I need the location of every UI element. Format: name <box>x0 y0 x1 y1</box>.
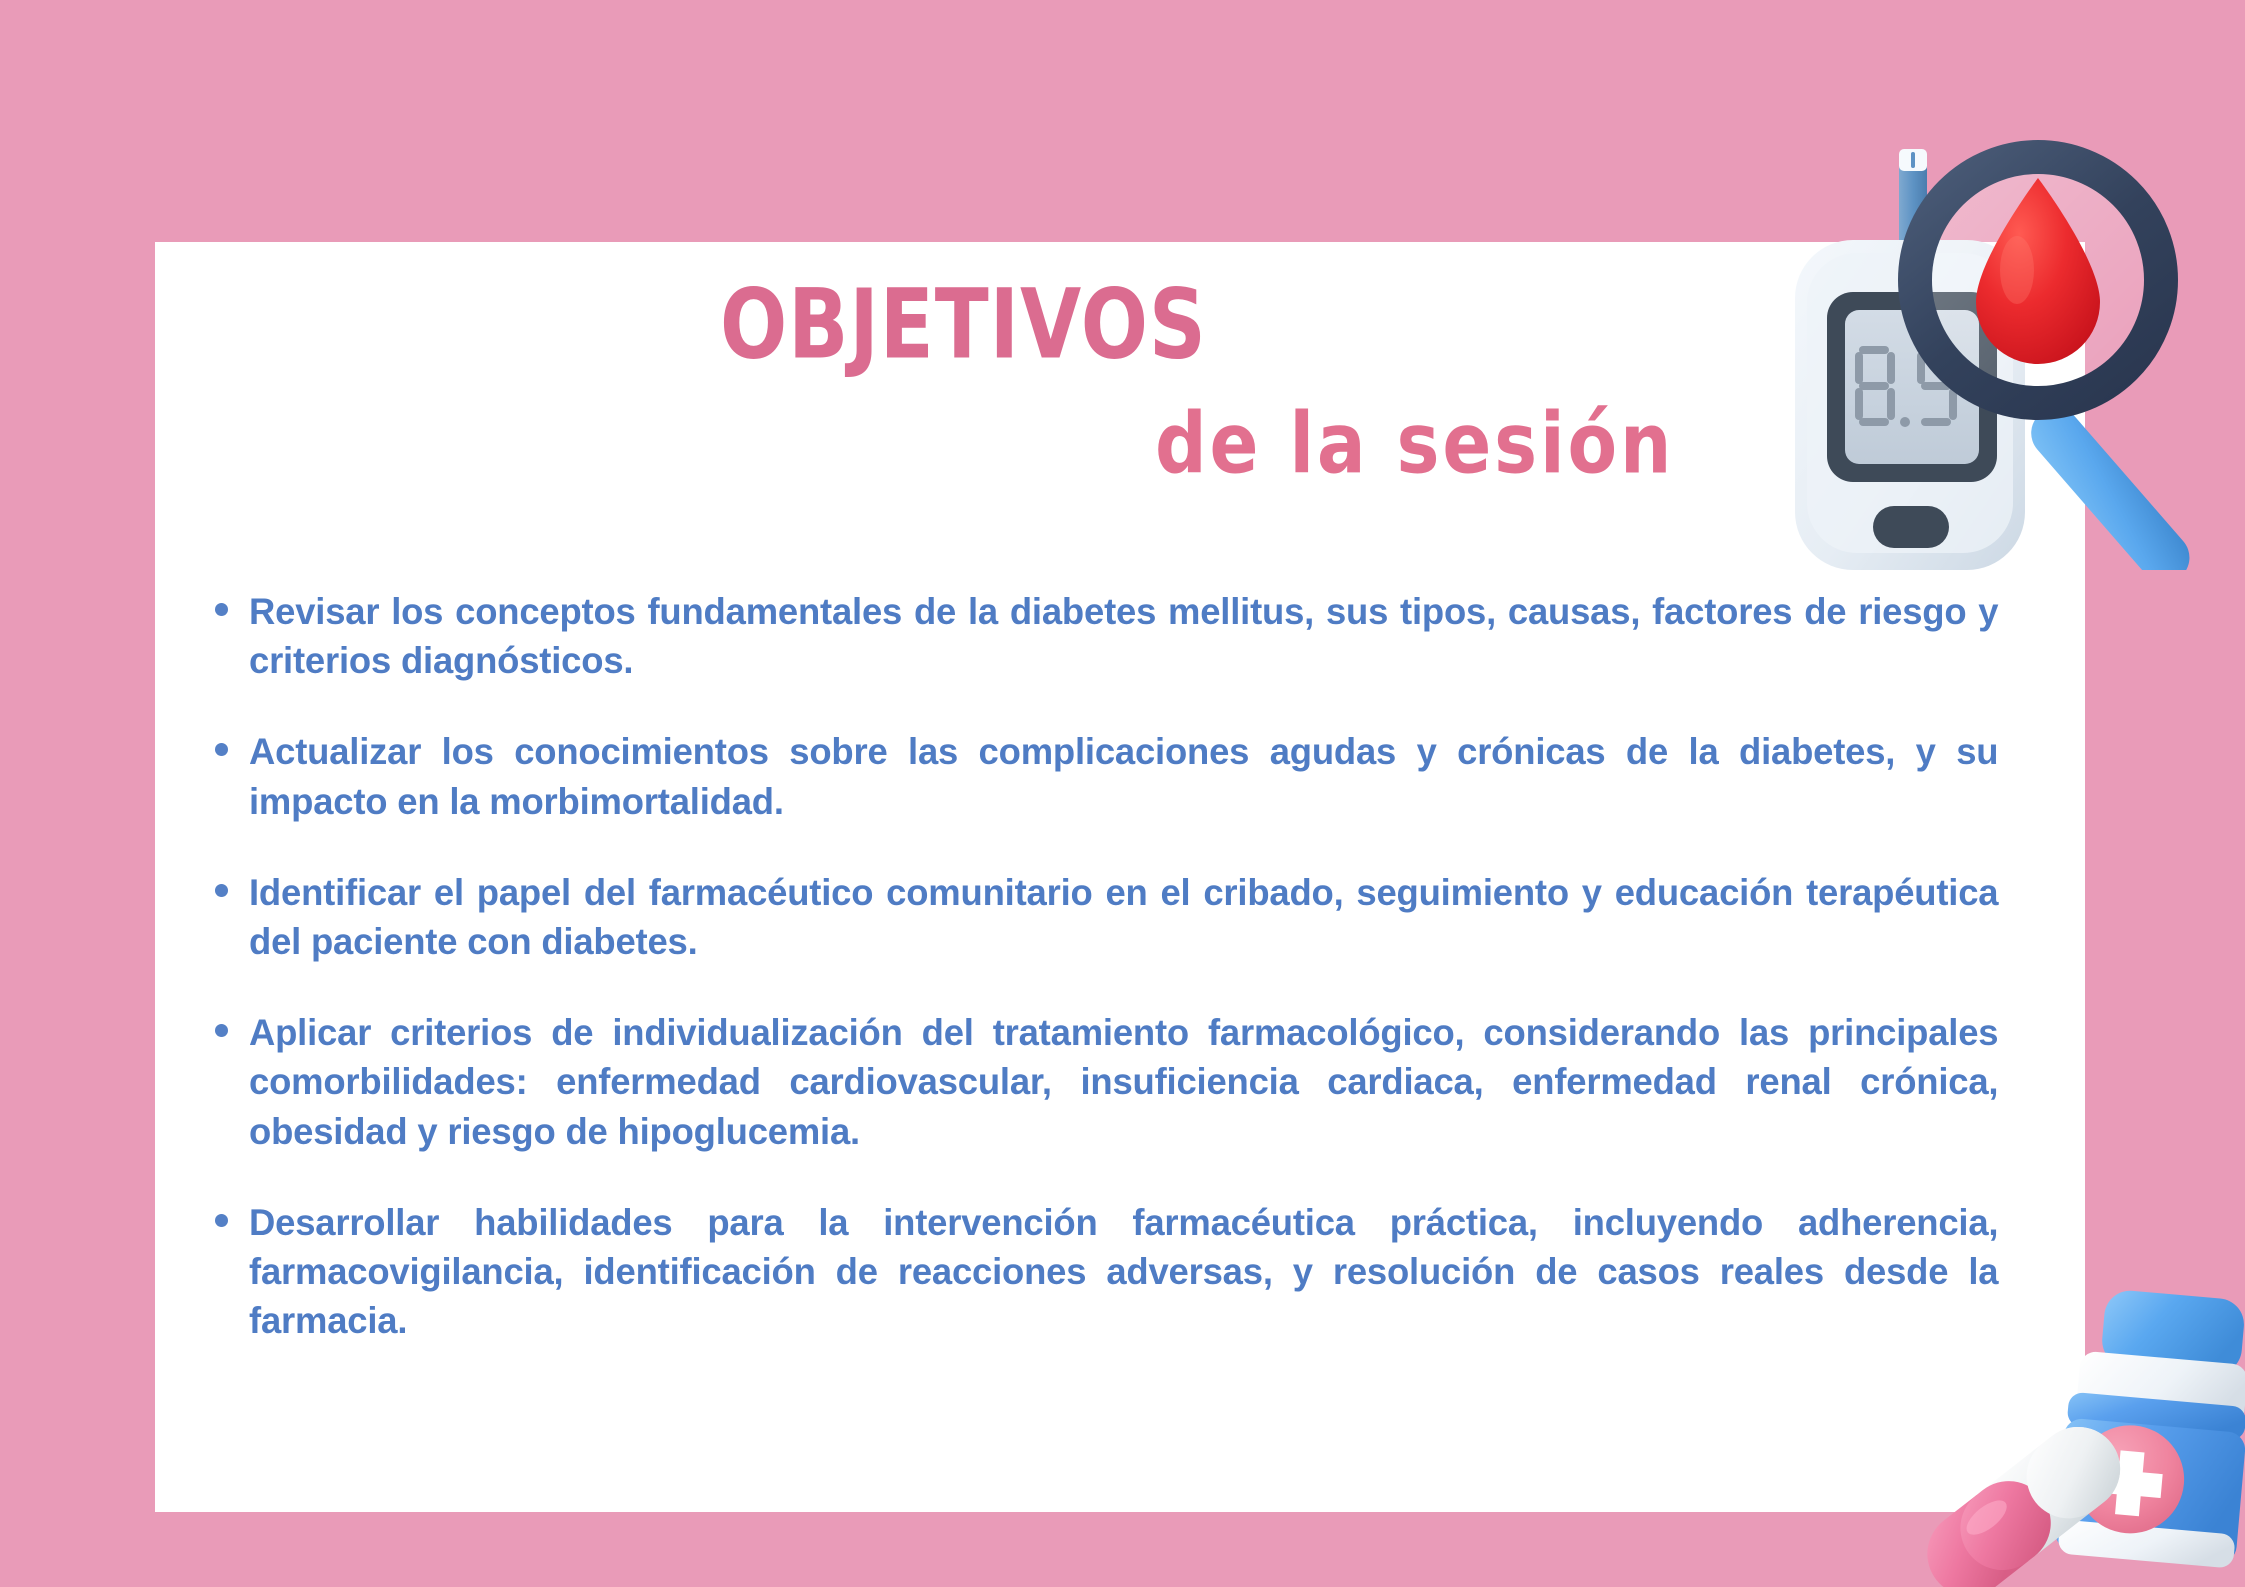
objectives-list: Revisar los conceptos fundamentales de l… <box>215 587 2025 1345</box>
list-item: Identificar el papel del farmacéutico co… <box>215 868 2025 966</box>
medicine-bottle-capsule-svg <box>1925 1245 2245 1587</box>
list-item: Revisar los conceptos fundamentales de l… <box>215 587 2025 685</box>
medicine-illustration <box>1925 1245 2245 1587</box>
bullet-point-icon <box>215 868 249 897</box>
list-item: Aplicar criterios de individualización d… <box>215 1008 2025 1156</box>
list-item-label: Aplicar criterios de individualización d… <box>249 1008 1998 1156</box>
list-item-label: Revisar los conceptos fundamentales de l… <box>249 587 1998 685</box>
list-item-label: Identificar el papel del farmacéutico co… <box>249 868 1998 966</box>
bullet-point-icon <box>215 727 249 756</box>
magnifier-handle <box>2021 398 2200 570</box>
glucometer-illustration <box>1755 120 2225 570</box>
list-item: Actualizar los conocimientos sobre las c… <box>215 727 2025 825</box>
bullet-point-icon <box>215 1008 249 1037</box>
list-item: Desarrollar habilidades para la interven… <box>215 1198 2025 1346</box>
list-item-label: Actualizar los conocimientos sobre las c… <box>249 727 1998 825</box>
page-subtitle: de la sesión <box>1155 402 1674 486</box>
list-item-label: Desarrollar habilidades para la interven… <box>249 1198 1998 1346</box>
slide-root: OBJETIVOS de la sesión Revisar los conce… <box>0 0 2245 1587</box>
bullet-point-icon <box>215 1198 249 1227</box>
glucometer-magnifier-svg <box>1755 120 2225 570</box>
page-title: OBJETIVOS <box>720 277 1207 373</box>
bullet-point-icon <box>215 587 249 616</box>
